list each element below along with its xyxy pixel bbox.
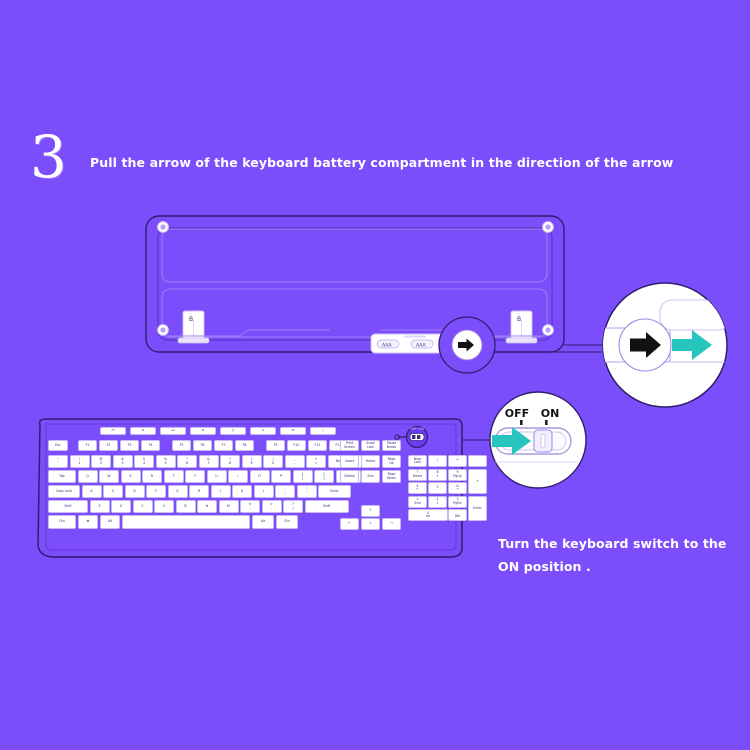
key-letter[interactable]: } ] (314, 470, 334, 483)
caption-line-1: Turn the keyboard switch to the (498, 532, 738, 555)
key-letter[interactable]: Shift (305, 500, 349, 513)
key-ctrl[interactable]: Ctrl (48, 515, 76, 529)
key-numpad[interactable]: * (448, 455, 467, 467)
black-right-arrow-icon (630, 332, 661, 358)
key-letter[interactable]: I (228, 470, 248, 483)
media-key[interactable]: ⌕ (310, 427, 336, 435)
keyboard-feet: B B (178, 311, 537, 343)
key-letter[interactable]: F (146, 485, 166, 498)
key-letter[interactable]: Z (90, 500, 110, 513)
key-nav[interactable]: Scroll Lock (361, 440, 380, 451)
key-win[interactable]: ⊞ (78, 515, 98, 529)
key-f[interactable]: F7 (214, 440, 233, 451)
battery-cell-slot: AAA (411, 340, 433, 348)
key-ctrl[interactable]: Ctrl (276, 515, 298, 529)
key-letter[interactable]: W (99, 470, 119, 483)
key-number[interactable]: % 5 (156, 455, 176, 468)
key-number[interactable]: ~ ` (48, 455, 68, 468)
key-letter[interactable]: Tab (48, 470, 76, 483)
key-letter[interactable]: S (103, 485, 123, 498)
key-f[interactable]: F8 (235, 440, 254, 451)
key-numpad[interactable]: 6 → (448, 482, 467, 494)
media-key[interactable]: ⏭ (160, 427, 186, 435)
key-number[interactable]: & 7 (199, 455, 219, 468)
key-numpad[interactable]: . Del (448, 509, 467, 521)
key-letter[interactable]: R (142, 470, 162, 483)
key-letter[interactable]: A (82, 485, 102, 498)
key-number[interactable]: _ - (285, 455, 305, 468)
svg-text:AAA: AAA (416, 342, 427, 348)
key-nav[interactable]: Page Down (382, 470, 401, 483)
key-number[interactable]: @ 2 (91, 455, 111, 468)
svg-text:B: B (517, 316, 521, 323)
key-numpad[interactable]: 2 ↓ (428, 496, 447, 508)
key-nav[interactable]: Insert (340, 455, 359, 468)
key-f[interactable]: F5 (172, 440, 191, 451)
key-letter[interactable]: : ; (275, 485, 295, 498)
svg-text:B: B (189, 316, 193, 323)
panel-screws (158, 222, 554, 336)
teal-right-arrow-icon (492, 427, 531, 455)
key-numpad[interactable]: 3 PgDn (448, 496, 467, 508)
battery-cell-slot: AAA (377, 340, 399, 348)
key-numpad[interactable]: / (428, 455, 447, 467)
key-letter[interactable]: Y (185, 470, 205, 483)
media-key[interactable]: ♫ (220, 427, 246, 435)
key-numpad[interactable]: 4 ← (408, 482, 427, 494)
teal-right-arrow-icon (672, 330, 712, 360)
key-numpad[interactable]: - (468, 455, 487, 467)
step-instruction-text: Pull the arrow of the keyboard battery c… (90, 155, 710, 171)
key-letter[interactable]: { [ (293, 470, 313, 483)
key-f[interactable]: F6 (193, 440, 212, 451)
keyboard-back-panel: B B AAA AAA (146, 216, 564, 353)
svg-text:AAA: AAA (382, 342, 393, 348)
key-f[interactable]: F10 (287, 440, 306, 451)
key-f[interactable]: F9 (266, 440, 285, 451)
step-number: 3 (30, 128, 67, 186)
key-nav[interactable]: Delete (340, 470, 359, 483)
key-letter[interactable]: N (197, 500, 217, 513)
magnifier-power-switch: OFF ON (490, 392, 586, 488)
key-letter[interactable]: O (250, 470, 270, 483)
key-number[interactable]: # 3 (113, 455, 133, 468)
artwork-layer: B B AAA AAA (0, 0, 750, 750)
key-nav[interactable]: Pause Break (382, 440, 401, 451)
key-nav[interactable]: End (361, 470, 380, 483)
key-numpad-enter[interactable]: Enter (468, 496, 487, 522)
key-letter[interactable]: V (154, 500, 174, 513)
media-key[interactable]: ⏮ (100, 427, 126, 435)
key-letter[interactable]: X (111, 500, 131, 513)
key-number[interactable]: ( 9 (242, 455, 262, 468)
illustration-stage: 3 Pull the arrow of the keyboard battery… (0, 0, 750, 750)
key-alt[interactable]: Alt (100, 515, 120, 529)
svg-text:OFF ON: OFF ON (410, 427, 424, 431)
key-letter[interactable]: K (232, 485, 252, 498)
key-letter[interactable]: B (176, 500, 196, 513)
key-f[interactable]: F11 (308, 440, 327, 451)
callout-connector-lines (418, 345, 610, 440)
key-arrow-left[interactable]: ← (340, 518, 359, 530)
media-key[interactable]: ⏯ (130, 427, 156, 435)
key-numpad-plus[interactable]: + (468, 469, 487, 495)
key-number[interactable]: $ 4 (134, 455, 154, 468)
key-f[interactable]: F4 (141, 440, 160, 451)
switch-on-label: ON (541, 407, 560, 420)
key-letter[interactable]: T (164, 470, 184, 483)
key-number[interactable]: + = (306, 455, 326, 468)
key-letter[interactable]: < , (240, 500, 260, 513)
key-letter[interactable]: C (133, 500, 153, 513)
key-numpad[interactable]: 7 Home (408, 469, 427, 481)
key-numpad[interactable]: 8 ↑ (428, 469, 447, 481)
key-letter[interactable]: G (168, 485, 188, 498)
key-letter[interactable]: Caps Lock (48, 485, 80, 498)
key-letter[interactable]: Q (78, 470, 98, 483)
key-letter[interactable]: H (189, 485, 209, 498)
key-f[interactable]: F3 (120, 440, 139, 451)
key-arrow-down[interactable]: ↓ (361, 518, 380, 530)
key-letter[interactable]: E (121, 470, 141, 483)
media-key[interactable]: ✉ (280, 427, 306, 435)
bottom-caption: Turn the keyboard switch to the ON posit… (498, 532, 738, 578)
key-f[interactable]: F1 (78, 440, 97, 451)
key-letter[interactable]: J (211, 485, 231, 498)
key-number[interactable]: * 8 (220, 455, 240, 468)
key-nav[interactable]: Print Screen (340, 440, 359, 451)
key-letter[interactable]: " ' (297, 485, 317, 498)
key-letter[interactable]: P (271, 470, 291, 483)
key-numpad[interactable]: 0 Ins (408, 509, 448, 521)
key-letter[interactable]: M (219, 500, 239, 513)
magnifier-battery-arrow (586, 283, 740, 407)
key-space[interactable] (122, 515, 250, 529)
battery-door-arrow-inline-magnifier (439, 317, 495, 373)
key-letter[interactable]: D (125, 485, 145, 498)
key-arrow-right[interactable]: → (382, 518, 401, 530)
key-letter[interactable]: ? / (283, 500, 303, 513)
caption-line-2: ON position . (498, 555, 738, 578)
key-nav[interactable]: Home (361, 455, 380, 468)
key-number[interactable]: ! 1 (70, 455, 90, 468)
key-numpad[interactable]: Num Lock (408, 455, 427, 467)
key-letter[interactable]: > . (262, 500, 282, 513)
key-number[interactable]: ^ 6 (177, 455, 197, 468)
media-key[interactable]: ⏹ (190, 427, 216, 435)
key-letter[interactable]: Shift (48, 500, 88, 513)
media-key[interactable]: ⌂ (250, 427, 276, 435)
key-letter[interactable]: U (207, 470, 227, 483)
key-esc[interactable]: Esc (48, 440, 68, 451)
key-letter[interactable]: Enter (318, 485, 351, 498)
battery-compartment-door: AAA AAA (371, 334, 471, 353)
key-f[interactable]: F2 (99, 440, 118, 451)
key-arrow-up[interactable]: ↑ (361, 505, 380, 517)
key-letter[interactable]: L (254, 485, 274, 498)
key-numpad[interactable]: 5 (428, 482, 447, 494)
key-number[interactable]: ) 0 (263, 455, 283, 468)
key-alt[interactable]: Alt (252, 515, 274, 529)
switch-off-label: OFF (505, 407, 529, 420)
key-numpad[interactable]: 9 PgUp (448, 469, 467, 481)
key-numpad[interactable]: 1 End (408, 496, 427, 508)
black-right-arrow-icon (458, 339, 474, 352)
key-nav[interactable]: Page Up (382, 455, 401, 468)
